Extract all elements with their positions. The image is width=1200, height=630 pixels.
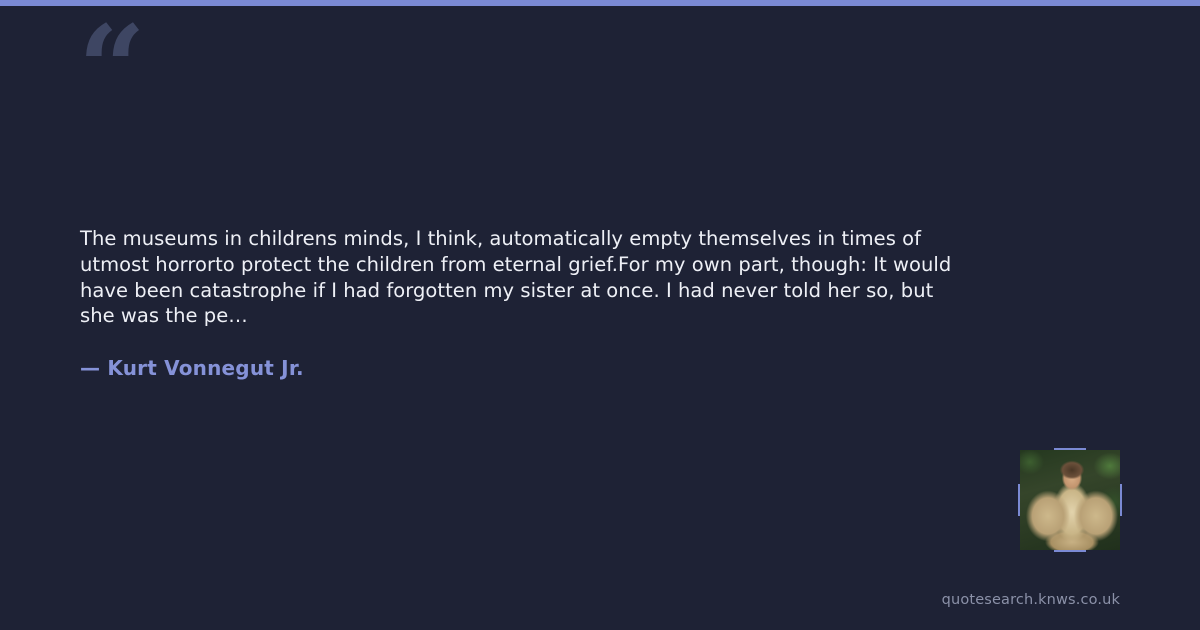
frame-dash-bottom: [1054, 550, 1086, 552]
top-accent-bar: [0, 0, 1200, 6]
frame-dash-right: [1120, 484, 1122, 516]
author-portrait-photo: [1020, 450, 1120, 550]
quote-card: “ The museums in childrens minds, I thin…: [0, 0, 1200, 630]
quote-text: The museums in childrens minds, I think,…: [80, 226, 970, 329]
quote-author: — Kurt Vonnegut Jr.: [80, 354, 304, 382]
source-url: quotesearch.knws.co.uk: [942, 590, 1120, 610]
author-portrait: [1020, 450, 1120, 550]
open-quote-icon: “: [78, 10, 144, 128]
